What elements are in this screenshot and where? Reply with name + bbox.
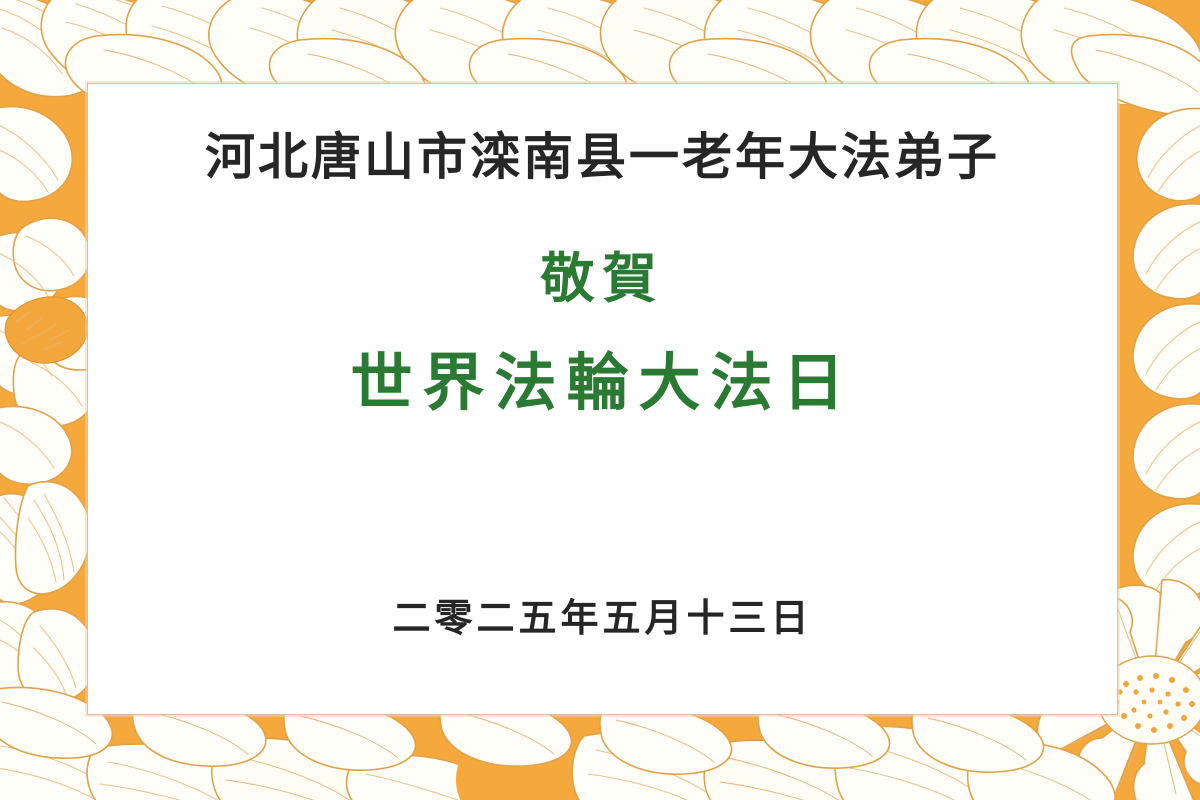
date-line: 二零二五年五月十三日: [88, 599, 1117, 637]
occasion-title: 世界法輪大法日: [88, 352, 1117, 414]
message-panel: 河北唐山市滦南县一老年大法弟子 敬賀 世界法輪大法日 二零二五年五月十三日: [87, 83, 1118, 715]
salutation-text: 敬賀: [88, 252, 1117, 306]
sender-line: 河北唐山市滦南县一老年大法弟子: [88, 132, 1117, 182]
greeting-card: .pet { fill:#FFFEF8; stroke:#E0A24A; str…: [0, 0, 1200, 800]
